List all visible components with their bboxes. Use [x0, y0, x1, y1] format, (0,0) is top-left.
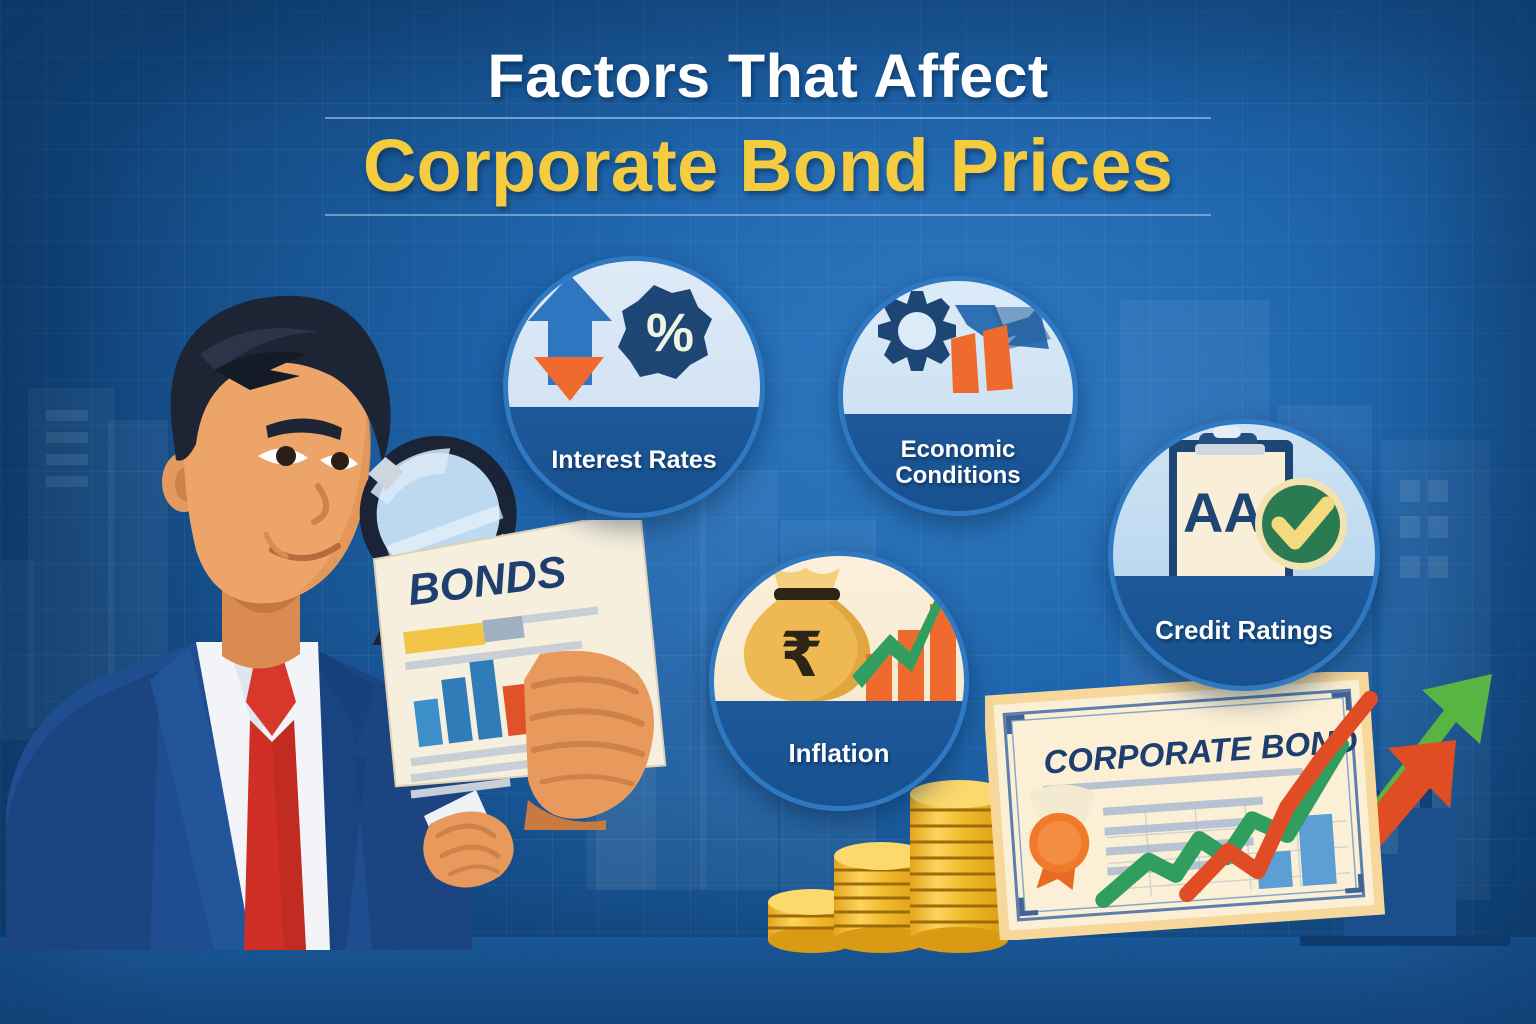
down-arrow-icon: [534, 357, 604, 401]
svg-text:%: %: [646, 303, 694, 363]
credit-ratings-icon-group: AAA: [1113, 424, 1375, 576]
title-line-1: Factors That Affect: [0, 44, 1536, 108]
money-bag-icon: ₹: [744, 566, 870, 701]
badge-label-economic-conditions: Economic Conditions: [857, 414, 1059, 511]
badge-inflation[interactable]: ₹ Inflation: [709, 551, 969, 811]
badge-label-inflation: Inflation: [729, 701, 949, 806]
gear-icon: [878, 291, 956, 371]
badge-interest-rates[interactable]: % Interest Rates: [503, 256, 765, 518]
percent-badge-icon: %: [618, 285, 712, 379]
badge-economic-conditions[interactable]: Economic Conditions: [838, 276, 1078, 516]
hand-holding-document: [510, 640, 680, 830]
rupee-symbol-icon: ₹: [780, 618, 823, 691]
title-divider-top: [325, 117, 1211, 119]
check-circle-icon: [1255, 478, 1347, 570]
inflation-icon-group: ₹: [714, 556, 964, 701]
badge-credit-ratings[interactable]: AAA Credit Ratings: [1108, 419, 1380, 691]
title-divider-bottom: [325, 214, 1211, 216]
title-block: Factors That Affect Corporate Bond Price…: [0, 44, 1536, 216]
title-line-2: Corporate Bond Prices: [0, 125, 1536, 208]
interest-rates-icon-group: %: [508, 261, 760, 407]
badge-label-credit-ratings: Credit Ratings: [1129, 576, 1360, 686]
badge-label-interest-rates: Interest Rates: [523, 407, 745, 513]
economic-conditions-icon-group: [843, 281, 1073, 414]
infographic-canvas: Factors That Affect Corporate Bond Price…: [0, 0, 1536, 1024]
corporate-bond-certificate: CORPORATE BOND: [985, 672, 1385, 940]
